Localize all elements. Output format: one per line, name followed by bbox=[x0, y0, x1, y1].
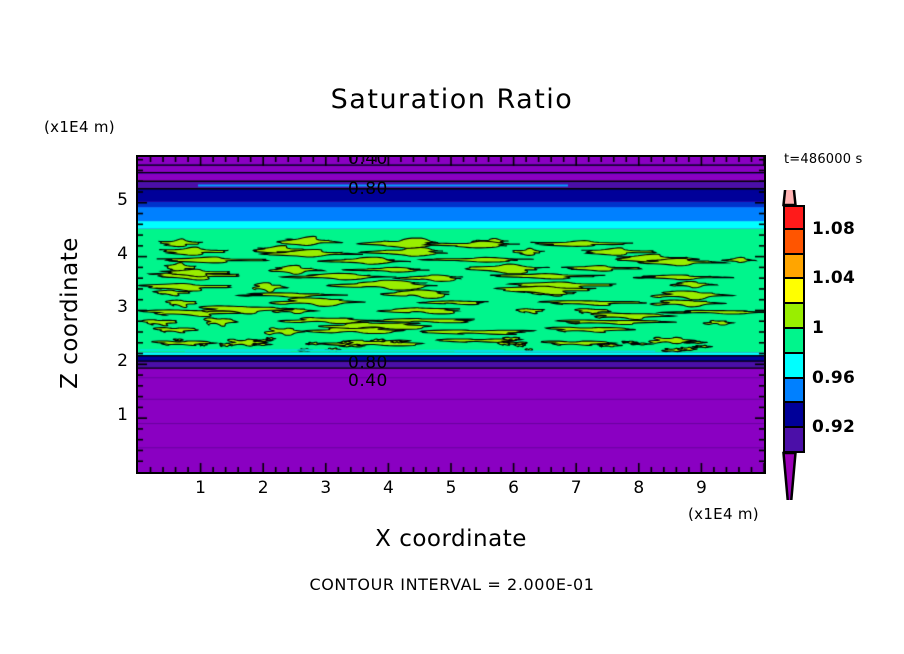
x-tick-label: 3 bbox=[306, 478, 346, 498]
y-tick-label: 2 bbox=[88, 351, 128, 371]
colorbar-band bbox=[783, 205, 805, 230]
colorbar-tick-label: 0.96 bbox=[812, 368, 855, 388]
y-tick-label: 4 bbox=[88, 244, 128, 264]
x-tick-label: 5 bbox=[431, 478, 471, 498]
x-axis-unit-label: (x1E4 m) bbox=[688, 505, 759, 523]
y-tick-label: 1 bbox=[88, 405, 128, 425]
y-axis-unit-label: (x1E4 m) bbox=[44, 118, 115, 136]
colorbar-band bbox=[783, 279, 805, 304]
contour-label: 0.40 bbox=[348, 371, 388, 391]
x-tick-label: 7 bbox=[556, 478, 596, 498]
colorbar-labels: 1.081.0410.960.92 bbox=[812, 205, 882, 453]
colorbar-cap bbox=[784, 453, 796, 500]
y-axis-ticks: 12345 bbox=[80, 155, 128, 474]
colorbar-tick-label: 1.04 bbox=[812, 268, 855, 288]
x-tick-label: 6 bbox=[494, 478, 534, 498]
contour-interval-caption: CONTOUR INTERVAL = 2.000E-01 bbox=[0, 575, 904, 594]
y-tick-label: 3 bbox=[88, 297, 128, 317]
colorbar-band bbox=[783, 354, 805, 379]
x-axis-ticks: 123456789 bbox=[136, 478, 766, 504]
colorbar-band bbox=[783, 304, 805, 329]
colorbar-band bbox=[783, 428, 805, 453]
x-tick-label: 2 bbox=[243, 478, 283, 498]
colorbar-band bbox=[783, 255, 805, 280]
colorbar-band bbox=[783, 230, 805, 255]
colorbar-tick-label: 1.08 bbox=[812, 219, 855, 239]
colorbar bbox=[783, 205, 805, 453]
contour-field-canvas bbox=[138, 157, 764, 472]
colorbar-band bbox=[783, 403, 805, 428]
x-tick-label: 1 bbox=[181, 478, 221, 498]
contour-plot-area: 0.400.800.800.40 bbox=[136, 155, 766, 474]
colorbar-band bbox=[783, 379, 805, 404]
x-tick-label: 8 bbox=[619, 478, 659, 498]
page-title: Saturation Ratio bbox=[0, 84, 904, 115]
time-stamp-label: t=486000 s bbox=[784, 152, 863, 167]
y-tick-label: 5 bbox=[88, 190, 128, 210]
colorbar-tick-label: 1 bbox=[812, 318, 824, 338]
x-axis-title: X coordinate bbox=[136, 526, 766, 552]
contour-label: 0.80 bbox=[348, 353, 388, 373]
colorbar-band bbox=[783, 329, 805, 354]
contour-label: 0.40 bbox=[348, 155, 388, 169]
x-tick-label: 9 bbox=[681, 478, 721, 498]
x-tick-label: 4 bbox=[368, 478, 408, 498]
contour-label: 0.80 bbox=[348, 179, 388, 199]
colorbar-cap bbox=[784, 190, 796, 205]
colorbar-tick-label: 0.92 bbox=[812, 417, 855, 437]
